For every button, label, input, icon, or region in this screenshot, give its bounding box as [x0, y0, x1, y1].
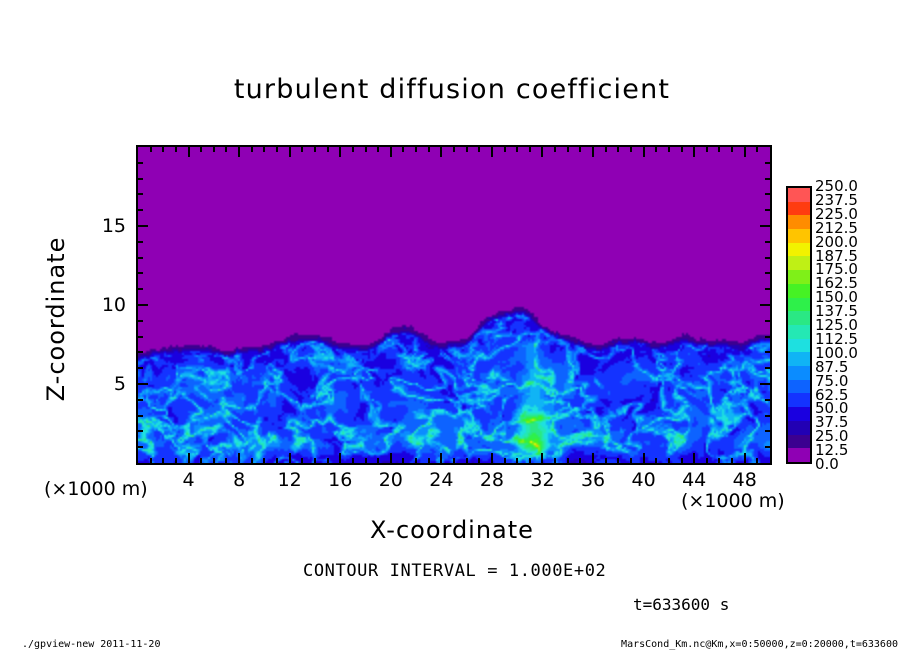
y-tick-right: [765, 162, 770, 164]
x-tick-top: [681, 147, 683, 152]
y-tick-right: [760, 304, 770, 306]
x-tick-label: 20: [379, 469, 403, 491]
y-tick-right: [765, 178, 770, 180]
x-tick-top: [541, 147, 543, 157]
x-tick-top: [263, 147, 265, 152]
x-tick-minor: [731, 458, 733, 463]
y-tick-minor: [138, 193, 143, 195]
x-tick-major: [693, 453, 695, 463]
x-tick-top: [390, 147, 392, 157]
x-tick-minor: [466, 458, 468, 463]
x-tick-minor: [377, 458, 379, 463]
y-tick-right: [765, 367, 770, 369]
x-tick-minor: [668, 458, 670, 463]
y-tick-minor: [138, 399, 143, 401]
colorbar-band: [788, 215, 810, 229]
y-tick-minor: [138, 367, 143, 369]
x-tick-minor: [200, 458, 202, 463]
x-tick-label: 36: [581, 469, 605, 491]
x-tick-top: [756, 147, 758, 152]
x-tick-major: [440, 453, 442, 463]
x-tick-top: [592, 147, 594, 157]
x-tick-top: [440, 147, 442, 157]
colorbar-band: [788, 311, 810, 325]
x-tick-top: [200, 147, 202, 152]
x-tick-top: [630, 147, 632, 152]
y-tick-right: [765, 351, 770, 353]
x-tick-minor: [630, 458, 632, 463]
x-tick-minor: [478, 458, 480, 463]
y-tick-right: [765, 241, 770, 243]
x-tick-major: [390, 453, 392, 463]
x-tick-top: [744, 147, 746, 157]
x-tick-top: [643, 147, 645, 157]
y-tick-minor: [138, 178, 143, 180]
colorbar-band: [788, 298, 810, 312]
y-tick-right: [765, 209, 770, 211]
x-tick-major: [188, 453, 190, 463]
x-tick-top: [605, 147, 607, 152]
colorbar-tick-label: 250.0: [815, 177, 858, 195]
x-tick-minor: [579, 458, 581, 463]
x-tick-minor: [605, 458, 607, 463]
x-tick-label: 12: [278, 469, 302, 491]
x-axis-unit-left: (×1000 m): [44, 478, 148, 500]
x-tick-minor: [415, 458, 417, 463]
y-tick-label: 5: [78, 373, 126, 395]
x-tick-top: [668, 147, 670, 152]
x-tick-minor: [529, 458, 531, 463]
colorbar-band: [788, 366, 810, 380]
x-tick-top: [150, 147, 152, 152]
colorbar-band: [788, 270, 810, 284]
x-tick-top: [731, 147, 733, 152]
x-tick-top: [188, 147, 190, 157]
y-tick-minor: [138, 288, 143, 290]
x-tick-top: [352, 147, 354, 152]
x-tick-top: [706, 147, 708, 152]
x-tick-top: [415, 147, 417, 152]
y-tick-right: [765, 193, 770, 195]
y-tick-minor: [138, 209, 143, 211]
x-tick-top: [327, 147, 329, 152]
x-tick-minor: [276, 458, 278, 463]
x-tick-minor: [402, 458, 404, 463]
x-tick-minor: [365, 458, 367, 463]
colorbar-band: [788, 435, 810, 449]
y-tick-minor: [138, 162, 143, 164]
y-tick-right: [760, 383, 770, 385]
x-tick-minor: [213, 458, 215, 463]
x-tick-minor: [225, 458, 227, 463]
x-tick-top: [504, 147, 506, 152]
footer-source-label: MarsCond_Km.nc@Km,x=0:50000,z=0:20000,t=…: [621, 639, 898, 650]
x-tick-top: [251, 147, 253, 152]
colorbar-band: [788, 202, 810, 216]
x-tick-label: 48: [733, 469, 757, 491]
y-tick-minor: [138, 241, 143, 243]
x-tick-minor: [251, 458, 253, 463]
x-tick-top: [289, 147, 291, 157]
x-tick-top: [377, 147, 379, 152]
colorbar-band: [788, 448, 810, 462]
x-tick-minor: [175, 458, 177, 463]
x-tick-label: 28: [480, 469, 504, 491]
x-tick-top: [617, 147, 619, 152]
x-tick-minor: [756, 458, 758, 463]
x-tick-top: [453, 147, 455, 152]
x-tick-top: [213, 147, 215, 152]
y-tick-minor: [138, 446, 143, 448]
x-tick-minor: [162, 458, 164, 463]
x-tick-top: [162, 147, 164, 152]
x-tick-minor: [567, 458, 569, 463]
x-tick-label: 32: [530, 469, 554, 491]
y-tick-right: [765, 257, 770, 259]
x-tick-major: [339, 453, 341, 463]
y-tick-right: [765, 415, 770, 417]
x-tick-minor: [516, 458, 518, 463]
x-tick-label: 24: [429, 469, 453, 491]
colorbar-band: [788, 393, 810, 407]
x-tick-major: [289, 453, 291, 463]
colorbar-band: [788, 284, 810, 298]
x-tick-top: [516, 147, 518, 152]
y-axis-title: Z-coordinate: [42, 219, 70, 419]
y-tick-label: 10: [78, 294, 126, 316]
x-tick-minor: [554, 458, 556, 463]
y-tick-minor: [138, 351, 143, 353]
x-tick-top: [655, 147, 657, 152]
colorbar-band: [788, 243, 810, 257]
x-tick-top: [339, 147, 341, 157]
x-tick-top: [718, 147, 720, 152]
colorbar-band: [788, 339, 810, 353]
y-tick-right: [765, 399, 770, 401]
y-tick-right: [765, 430, 770, 432]
y-tick-major: [138, 383, 148, 385]
y-tick-minor: [138, 257, 143, 259]
x-tick-top: [491, 147, 493, 157]
x-tick-top: [225, 147, 227, 152]
x-tick-top: [554, 147, 556, 152]
x-tick-label: 16: [328, 469, 352, 491]
x-tick-minor: [706, 458, 708, 463]
colorbar-band: [788, 256, 810, 270]
y-tick-right: [765, 336, 770, 338]
y-tick-minor: [138, 415, 143, 417]
x-tick-minor: [617, 458, 619, 463]
x-tick-minor: [327, 458, 329, 463]
x-tick-top: [276, 147, 278, 152]
x-tick-minor: [428, 458, 430, 463]
y-tick-major: [138, 225, 148, 227]
y-tick-right: [765, 288, 770, 290]
page-title: turbulent diffusion coefficient: [0, 74, 904, 105]
x-tick-top: [314, 147, 316, 152]
x-tick-label: 40: [632, 469, 656, 491]
x-tick-minor: [655, 458, 657, 463]
x-tick-minor: [263, 458, 265, 463]
x-tick-major: [491, 453, 493, 463]
x-axis-unit-right: (×1000 m): [681, 490, 785, 512]
x-tick-label: 44: [682, 469, 706, 491]
y-tick-minor: [138, 336, 143, 338]
colorbar-band: [788, 188, 810, 202]
x-tick-top: [567, 147, 569, 152]
heatmap-canvas: [138, 147, 770, 463]
colorbar-band: [788, 229, 810, 243]
y-tick-minor: [138, 272, 143, 274]
x-tick-minor: [301, 458, 303, 463]
colorbar-band: [788, 325, 810, 339]
x-tick-minor: [718, 458, 720, 463]
x-tick-top: [693, 147, 695, 157]
x-tick-label: 8: [233, 469, 245, 491]
time-label: t=633600 s: [633, 595, 729, 614]
x-tick-major: [541, 453, 543, 463]
y-tick-right: [765, 320, 770, 322]
x-tick-minor: [314, 458, 316, 463]
x-tick-top: [301, 147, 303, 152]
x-tick-top: [402, 147, 404, 152]
colorbar-band: [788, 421, 810, 435]
footer-command-label: ./gpview-new 2011-11-20: [22, 639, 160, 650]
x-tick-major: [744, 453, 746, 463]
x-tick-minor: [352, 458, 354, 463]
x-tick-top: [529, 147, 531, 152]
x-tick-major: [592, 453, 594, 463]
x-tick-label: 4: [183, 469, 195, 491]
y-tick-label: 15: [78, 215, 126, 237]
x-tick-major: [238, 453, 240, 463]
colorbar: [786, 186, 812, 464]
x-tick-top: [238, 147, 240, 157]
x-tick-minor: [681, 458, 683, 463]
x-tick-top: [579, 147, 581, 152]
x-tick-top: [428, 147, 430, 152]
colorbar-band: [788, 352, 810, 366]
y-tick-right: [765, 272, 770, 274]
colorbar-band: [788, 380, 810, 394]
x-tick-top: [175, 147, 177, 152]
x-tick-top: [365, 147, 367, 152]
plot-area: [136, 145, 772, 465]
y-tick-major: [138, 304, 148, 306]
colorbar-band: [788, 407, 810, 421]
y-tick-minor: [138, 320, 143, 322]
y-tick-right: [765, 446, 770, 448]
contour-interval-label: CONTOUR INTERVAL = 1.000E+02: [303, 561, 606, 581]
x-tick-minor: [453, 458, 455, 463]
y-tick-right: [760, 225, 770, 227]
x-tick-top: [478, 147, 480, 152]
x-tick-minor: [150, 458, 152, 463]
x-tick-minor: [504, 458, 506, 463]
x-axis-title: X-coordinate: [0, 516, 904, 544]
x-tick-major: [643, 453, 645, 463]
x-tick-top: [466, 147, 468, 152]
y-tick-minor: [138, 430, 143, 432]
